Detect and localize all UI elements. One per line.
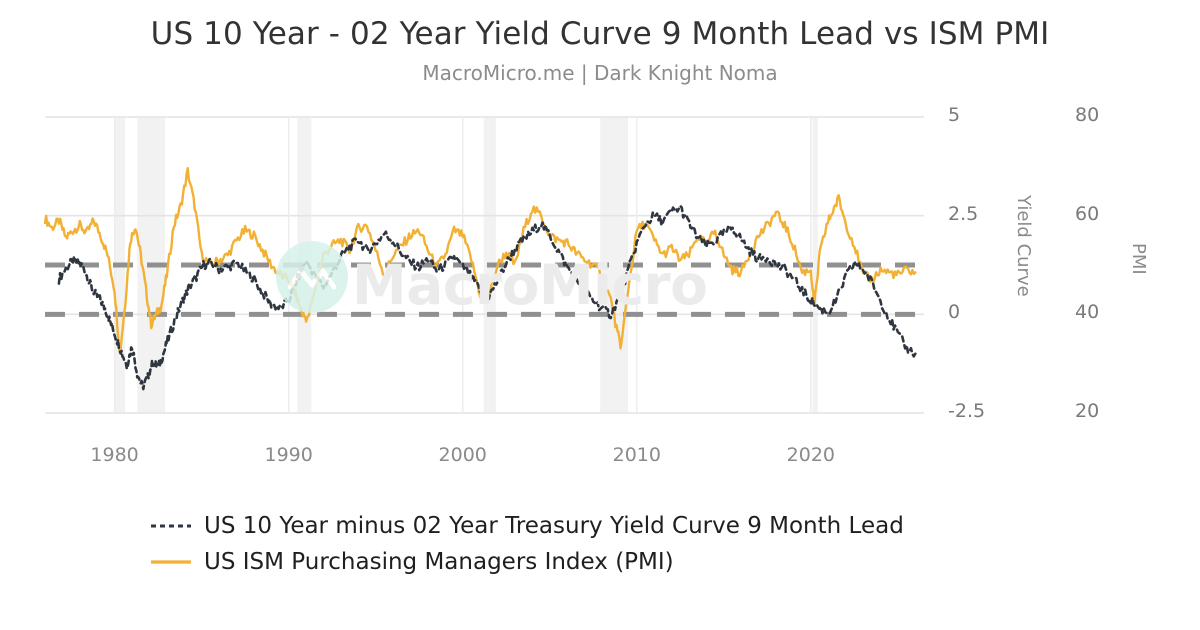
y-axis-tick-pmi: 40 — [1075, 301, 1099, 323]
logo-chevron-icon — [288, 261, 336, 295]
recession-band — [813, 117, 818, 413]
y-axis-tick-yield: -2.5 — [948, 400, 985, 422]
y-axis-tick-yield: 5 — [948, 104, 960, 126]
chart-legend: US 10 Year minus 02 Year Treasury Yield … — [150, 508, 1090, 580]
x-axis-tick: 2010 — [597, 444, 677, 466]
page-title: US 10 Year - 02 Year Yield Curve 9 Month… — [0, 14, 1200, 54]
macromicro-logo-icon — [276, 241, 348, 313]
y-axis-tick-yield: 2.5 — [948, 203, 978, 225]
x-axis-tick: 1990 — [249, 444, 329, 466]
legend-marker-dashed-icon — [150, 519, 192, 533]
x-axis-tick: 1980 — [75, 444, 155, 466]
chart-subtitle: MacroMicro.me | Dark Knight Noma — [0, 58, 1200, 88]
legend-item[interactable]: US ISM Purchasing Managers Index (PMI) — [150, 544, 1090, 580]
legend-label: US 10 Year minus 02 Year Treasury Yield … — [204, 511, 904, 541]
y-axis-title-pmi: PMI — [1128, 243, 1149, 275]
legend-marker-solid-icon — [150, 555, 192, 569]
legend-item[interactable]: US 10 Year minus 02 Year Treasury Yield … — [150, 508, 1090, 544]
x-axis-tick: 2020 — [771, 444, 851, 466]
y-axis-tick-pmi: 20 — [1075, 400, 1099, 422]
y-axis-title-yield: Yield Curve — [1013, 195, 1034, 297]
watermark-text: MacroMicro — [352, 253, 707, 317]
legend-label: US ISM Purchasing Managers Index (PMI) — [204, 547, 674, 577]
y-axis-tick-pmi: 60 — [1075, 203, 1099, 225]
x-axis-tick: 2000 — [423, 444, 503, 466]
y-axis-tick-yield: 0 — [948, 301, 960, 323]
title-block: US 10 Year - 02 Year Yield Curve 9 Month… — [0, 14, 1200, 88]
y-axis-tick-pmi: 80 — [1075, 104, 1099, 126]
chart-root: US 10 Year - 02 Year Yield Curve 9 Month… — [0, 0, 1200, 630]
